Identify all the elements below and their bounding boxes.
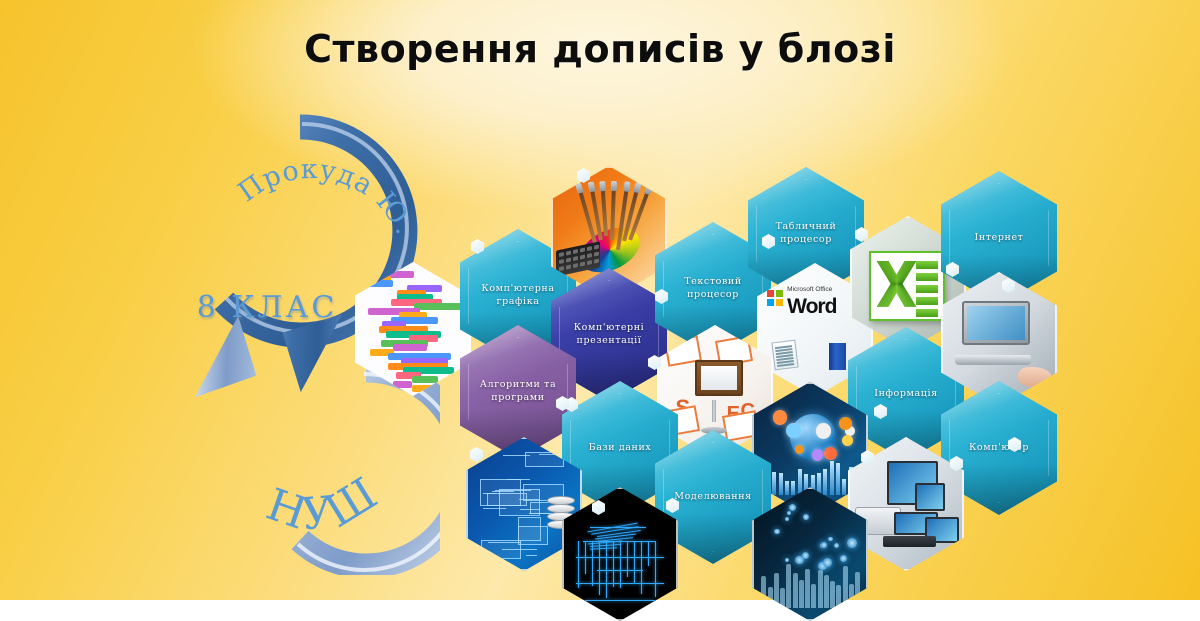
presentation-slide: Створення дописів у блозі [0, 0, 1200, 600]
hex-label: Бази даних [575, 442, 666, 455]
hex-label: Інтернет [960, 232, 1037, 245]
hex-scratch-blocks[interactable] [355, 262, 471, 396]
hexagon-grid: Комп'ютерна графікаКомп'ютерні презентац… [0, 0, 1200, 600]
hex-label: Текстовий процесор [655, 276, 771, 302]
hex-label: Комп'ютерні презентації [551, 322, 667, 348]
hex-image-border [355, 262, 471, 396]
hex-label: Інформація [860, 388, 952, 401]
hex-label: Комп'ютер [955, 442, 1043, 455]
hex-nub-icon [470, 447, 483, 462]
